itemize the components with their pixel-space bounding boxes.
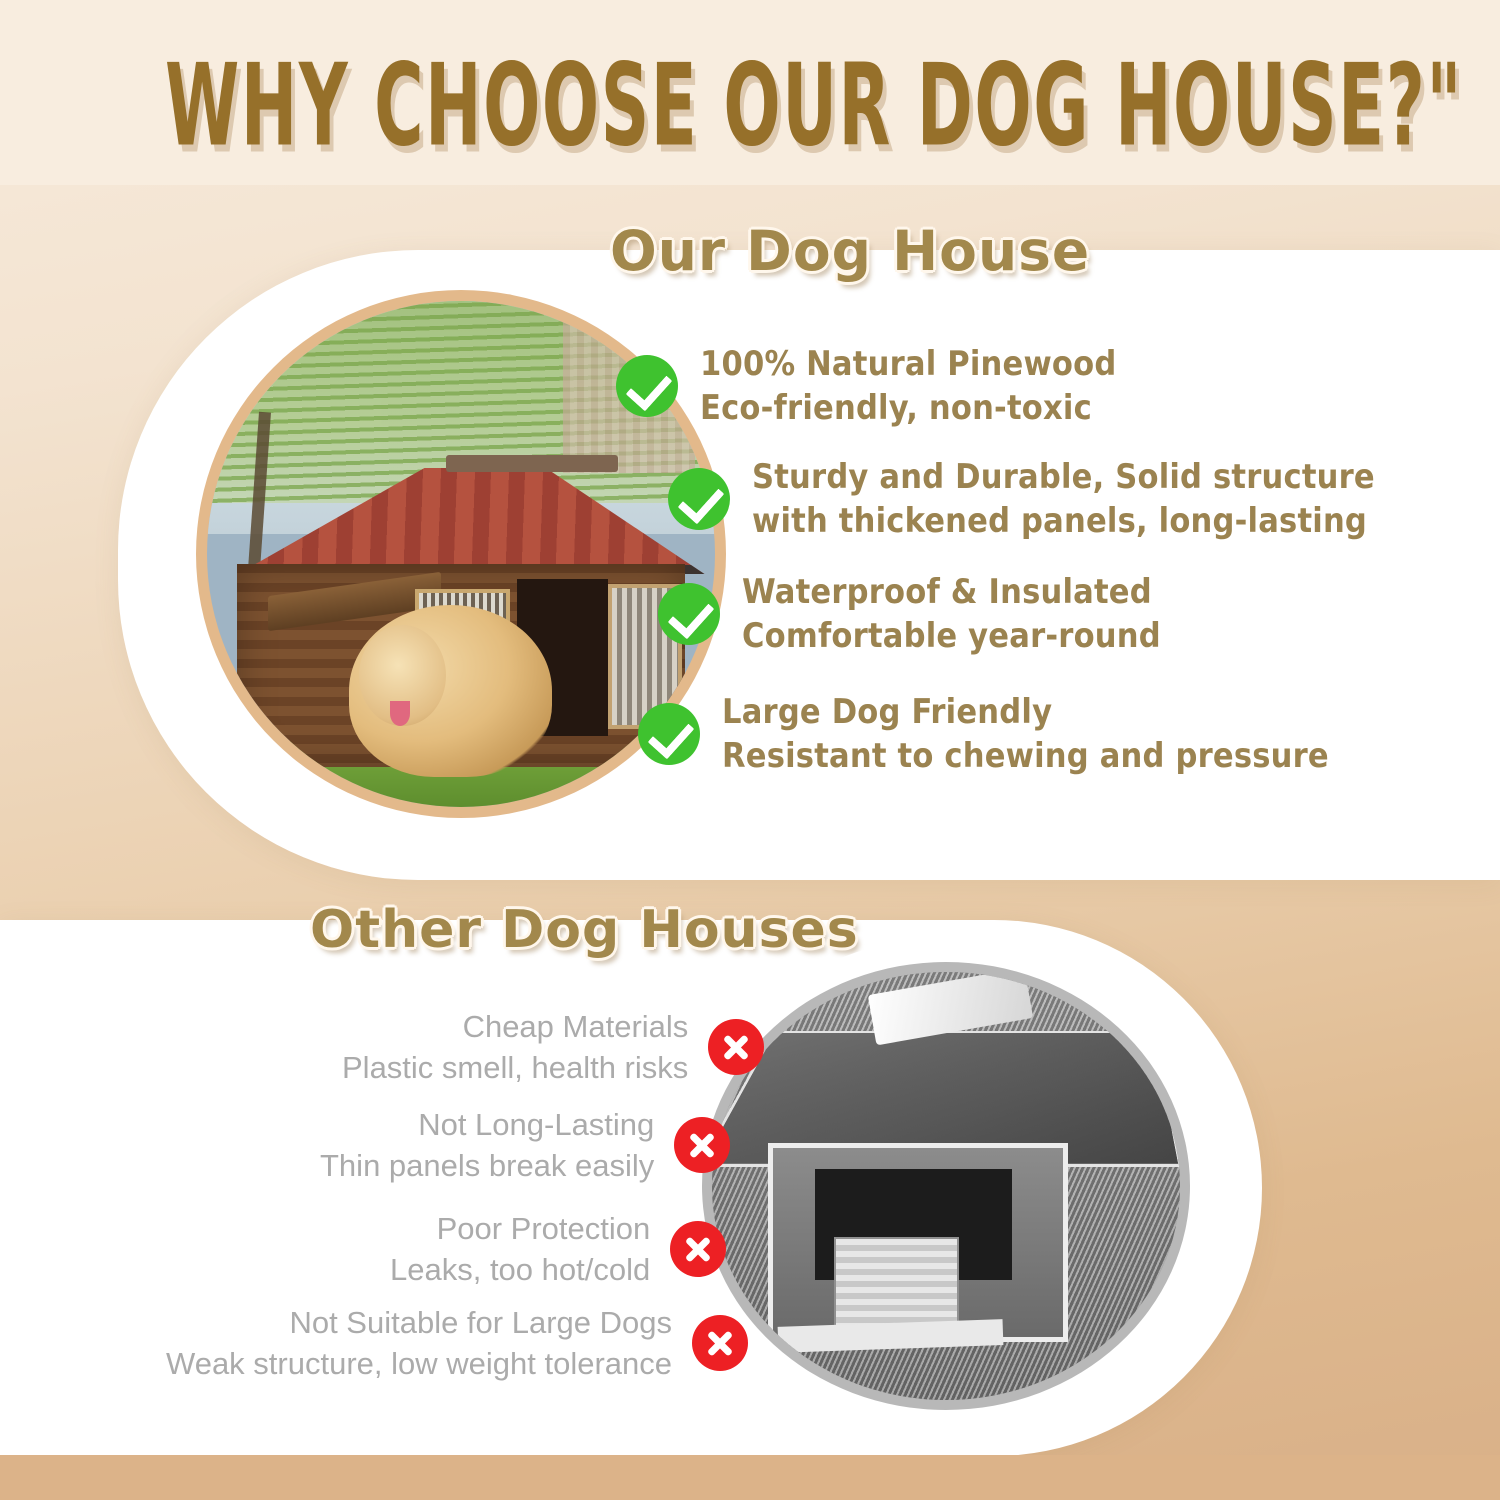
feature-title: Sturdy and Durable, Solid structurewith … bbox=[752, 455, 1375, 543]
check-circle-icon bbox=[638, 703, 700, 765]
drawback-subtitle-line: Thin panels break easily bbox=[320, 1148, 654, 1183]
feature-title: Waterproof & InsulatedComfortable year-r… bbox=[742, 570, 1161, 658]
drawback-title-line: Not Suitable for Large Dogs bbox=[289, 1305, 672, 1340]
feature-subtitle-line: Comfortable year-round bbox=[742, 616, 1161, 656]
feature-row: Sturdy and Durable, Solid structurewith … bbox=[668, 455, 1375, 543]
x-circle-icon bbox=[708, 1019, 764, 1075]
drawback-title-line: Not Long-Lasting bbox=[418, 1107, 654, 1142]
drawback-row: Not Suitable for Large DogsWeak structur… bbox=[166, 1302, 748, 1384]
feature-subtitle-line: Eco-friendly, non-toxic bbox=[700, 388, 1092, 428]
feature-title-line: Waterproof & Insulated bbox=[742, 572, 1152, 612]
drawback-title: Cheap MaterialsPlastic smell, health ris… bbox=[342, 1006, 688, 1088]
other-dog-house-photo bbox=[702, 962, 1190, 1410]
photo-dog-tongue bbox=[390, 701, 410, 726]
page-title: WHY CHOOSE OUR DOG HOUSE?" bbox=[165, 44, 1335, 167]
drawback-subtitle-line: Plastic smell, health risks bbox=[342, 1050, 688, 1085]
check-circle-icon bbox=[668, 468, 730, 530]
drawback-title-line: Cheap Materials bbox=[463, 1009, 689, 1044]
drawback-title-line: Poor Protection bbox=[437, 1211, 651, 1246]
drawback-subtitle-line: Leaks, too hot/cold bbox=[390, 1252, 650, 1287]
drawback-title: Not Suitable for Large DogsWeak structur… bbox=[166, 1302, 672, 1384]
comparison-infographic: WHY CHOOSE OUR DOG HOUSE?" Our Dog House… bbox=[0, 0, 1500, 1500]
other-dog-houses-heading: Other Dog Houses bbox=[310, 900, 859, 960]
drawback-subtitle-line: Weak structure, low weight tolerance bbox=[166, 1346, 672, 1381]
feature-title-line: 100% Natural Pinewood bbox=[700, 344, 1116, 384]
feature-row: 100% Natural PinewoodEco-friendly, non-t… bbox=[616, 342, 1116, 430]
check-circle-icon bbox=[616, 355, 678, 417]
drawback-title: Not Long-LastingThin panels break easily bbox=[320, 1104, 654, 1186]
feature-row: Large Dog FriendlyResistant to chewing a… bbox=[638, 690, 1329, 778]
x-circle-icon bbox=[692, 1315, 748, 1371]
feature-title: 100% Natural PinewoodEco-friendly, non-t… bbox=[700, 342, 1116, 430]
our-dog-house-heading: Our Dog House bbox=[610, 220, 1090, 282]
drawback-row: Not Long-LastingThin panels break easily bbox=[320, 1104, 730, 1186]
feature-title-line: Large Dog Friendly bbox=[722, 692, 1052, 732]
x-circle-icon bbox=[670, 1221, 726, 1277]
feature-title-line: Sturdy and Durable, Solid structure bbox=[752, 457, 1375, 497]
feature-row: Waterproof & InsulatedComfortable year-r… bbox=[658, 570, 1161, 658]
bottom-accent-band bbox=[0, 1455, 1500, 1500]
drawback-row: Poor ProtectionLeaks, too hot/cold bbox=[390, 1208, 726, 1290]
drawback-title: Poor ProtectionLeaks, too hot/cold bbox=[390, 1208, 650, 1290]
drawback-row: Cheap MaterialsPlastic smell, health ris… bbox=[342, 1006, 764, 1088]
feature-title: Large Dog FriendlyResistant to chewing a… bbox=[722, 690, 1329, 778]
x-circle-icon bbox=[674, 1117, 730, 1173]
feature-subtitle-line: Resistant to chewing and pressure bbox=[722, 736, 1329, 776]
photo-roof-ridge bbox=[446, 455, 619, 471]
feature-subtitle-line: with thickened panels, long-lasting bbox=[752, 501, 1367, 541]
check-circle-icon bbox=[658, 583, 720, 645]
